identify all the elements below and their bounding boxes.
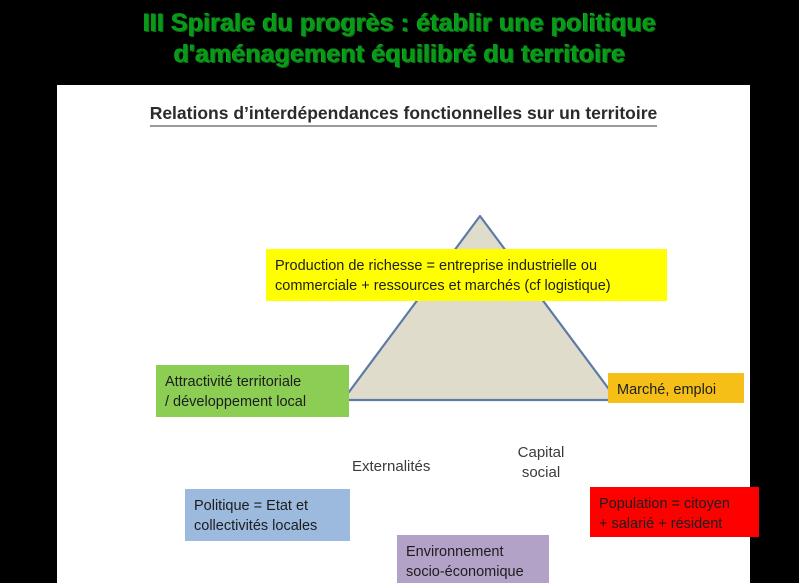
content-panel: Relations d’interdépendances fonctionnel…: [57, 85, 750, 583]
callout-box-marche: Marché, emploi: [608, 373, 744, 403]
slide-title: III Spirale du progrès : établir une pol…: [0, 8, 799, 70]
panel-heading-text: Relations d’interdépendances fonctionnel…: [150, 103, 658, 127]
triangle-shape: [340, 213, 620, 403]
callout-box-politique: Politique = Etat et collectivités locale…: [185, 489, 350, 541]
slide-canvas: III Spirale du progrès : établir une pol…: [0, 0, 799, 583]
callout-box-population: Population = citoyen + salarié + résiden…: [590, 487, 759, 537]
callout-box-production: Production de richesse = entreprise indu…: [266, 249, 667, 301]
triangle-label-capital-social: Capital social: [491, 443, 591, 483]
triangle-label-externalites: Externalités: [352, 457, 472, 477]
panel-heading: Relations d’interdépendances fonctionnel…: [57, 103, 750, 124]
callout-box-environnement: Environnement socio-économique + aménité…: [397, 535, 549, 583]
callout-box-attractivite: Attractivité territoriale / développemen…: [156, 365, 349, 417]
